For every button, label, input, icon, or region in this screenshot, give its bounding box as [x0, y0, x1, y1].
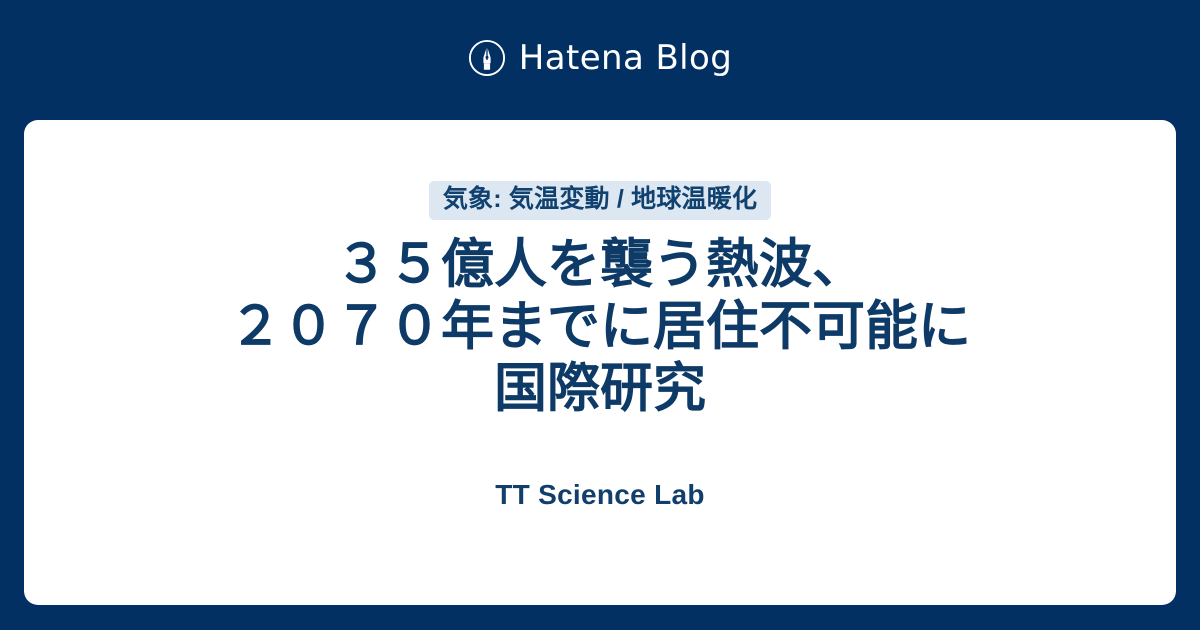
entry-title-line-2: ２０７０年までに居住不可能に: [229, 296, 971, 358]
hatena-blog-brand[interactable]: Hatena Blog: [468, 39, 732, 77]
entry-card: 気象: 気温変動 / 地球温暖化 ３５億人を襲う熱波、 ２０７０年までに居住不可…: [24, 120, 1176, 605]
entry-title-line-1: ３５億人を襲う熱波、: [229, 234, 971, 296]
category-tag[interactable]: 気象: 気温変動 / 地球温暖化: [429, 181, 771, 220]
site-header: Hatena Blog: [0, 0, 1200, 120]
og-image-canvas: Hatena Blog 気象: 気温変動 / 地球温暖化 ３５億人を襲う熱波、 …: [0, 0, 1200, 630]
blog-title[interactable]: TT Science Lab: [495, 478, 705, 512]
entry-title-line-3: 国際研究: [229, 358, 971, 420]
hatena-pen-nib-icon: [468, 39, 506, 77]
entry-title: ３５億人を襲う熱波、 ２０７０年までに居住不可能に 国際研究: [199, 234, 1001, 420]
brand-name-label: Hatena Blog: [519, 39, 732, 77]
